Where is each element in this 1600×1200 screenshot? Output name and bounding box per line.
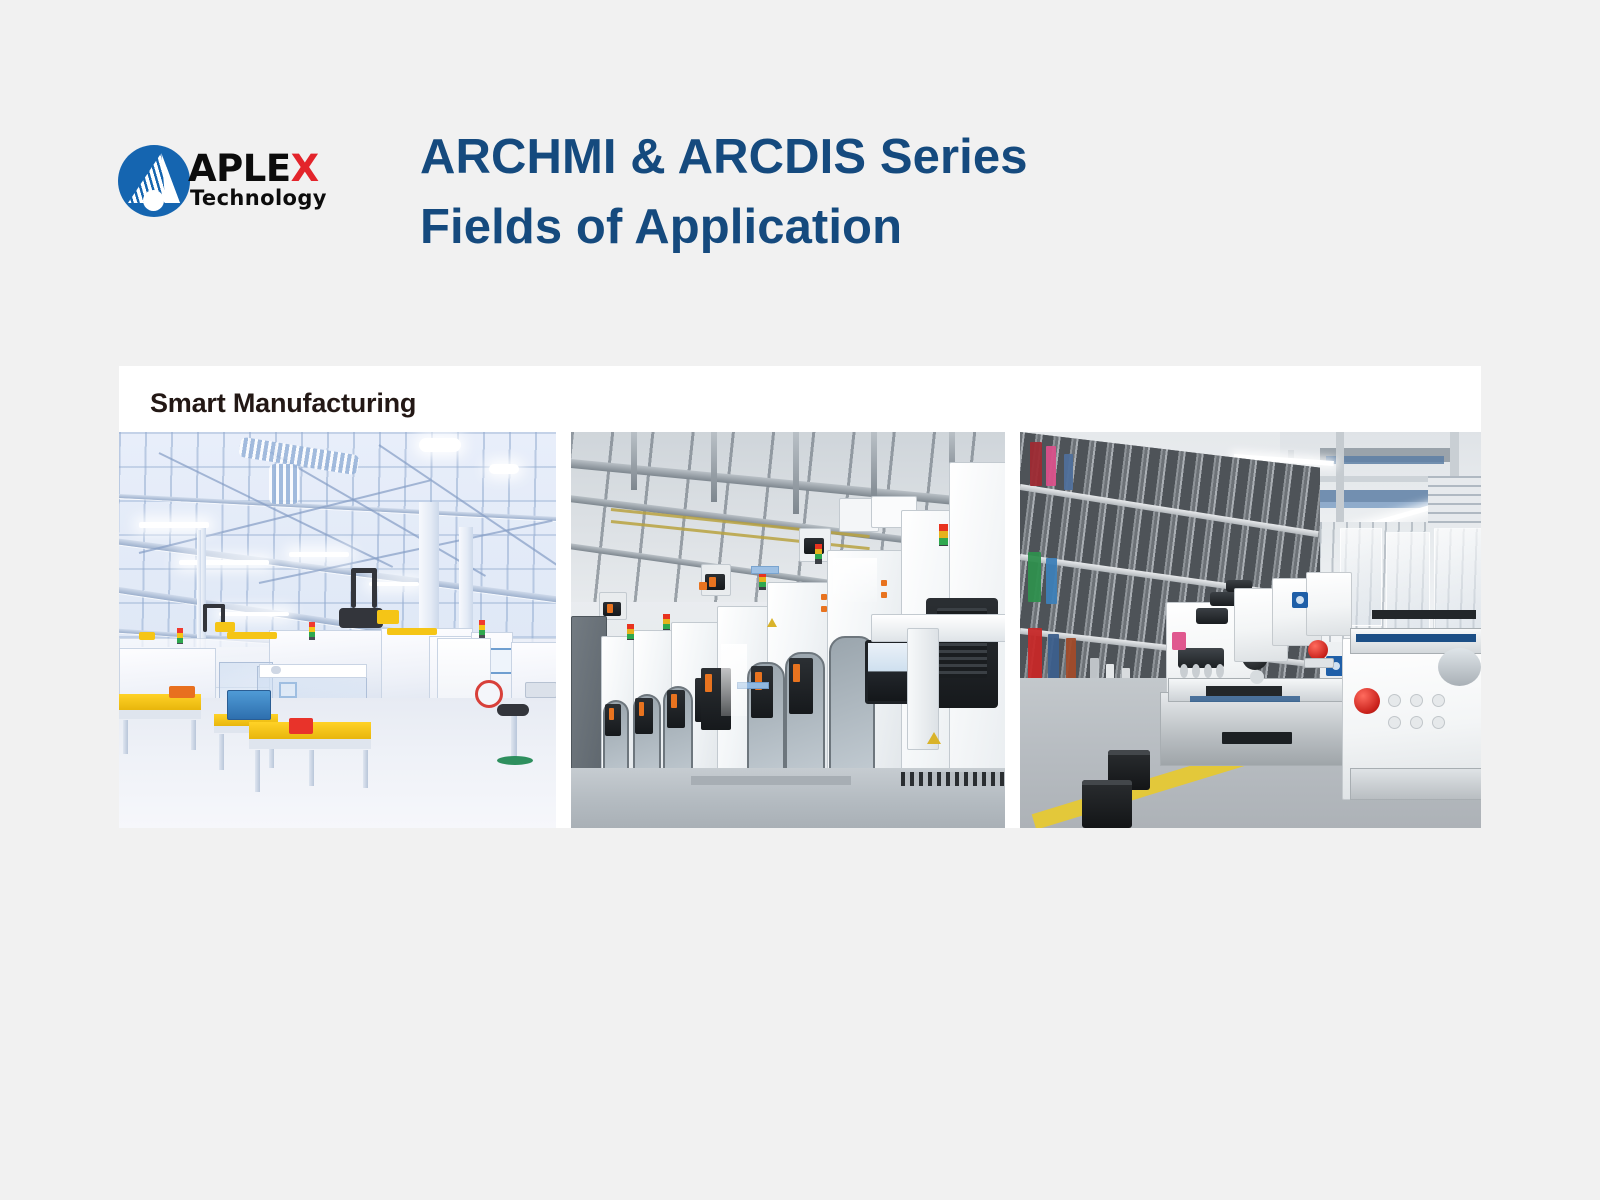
stool-post	[511, 716, 517, 758]
aplex-logo: APLEX Technology	[118, 142, 358, 220]
aplex-wordmark-accent: X	[291, 147, 319, 190]
foreground-machine-base	[1350, 768, 1481, 800]
stool-base	[497, 756, 533, 765]
assembly-rail	[1206, 686, 1282, 696]
emergency-stop-base	[1304, 658, 1334, 668]
rack-item	[1030, 442, 1042, 486]
carrier-indicator	[607, 604, 613, 613]
loadport-indicator	[793, 664, 800, 682]
page-title-line-1: ARCHMI & ARCDIS Series	[420, 122, 1320, 192]
red-bin	[289, 718, 313, 734]
loadport-indicator	[671, 694, 677, 708]
page-title-line-2: Fields of Application	[420, 192, 1320, 262]
tooling-spindle	[1216, 664, 1224, 678]
operator-pad[interactable]	[1292, 592, 1308, 608]
ceiling-hanger	[793, 432, 799, 514]
bench-top	[525, 682, 556, 698]
aplex-logo-mark	[118, 145, 190, 217]
page-title: ARCHMI & ARCDIS Series Fields of Applica…	[420, 122, 1320, 262]
aplex-wordmark-text: APLEX	[188, 150, 319, 188]
slide-header: APLEX Technology ARCHMI & ARCDIS Series …	[0, 0, 1600, 330]
overhead-gantry	[372, 568, 377, 608]
panel-button[interactable]	[1410, 694, 1423, 707]
rack-item	[1064, 454, 1073, 490]
warning-triangle-icon	[767, 618, 777, 627]
conveyor-rail	[227, 632, 277, 639]
assembly-rail	[1372, 610, 1476, 619]
panel-button[interactable]	[1388, 716, 1401, 729]
machine-knob	[271, 666, 281, 674]
work-table-deck	[249, 739, 371, 749]
panel-button[interactable]	[1388, 694, 1401, 707]
assembly-module	[1306, 572, 1352, 636]
control-button-panel[interactable]	[1388, 694, 1446, 729]
status-light-stack	[309, 622, 315, 640]
tooling-spindle	[1180, 664, 1188, 678]
loadport-indicator	[609, 708, 614, 720]
wafer-loadport	[635, 698, 653, 734]
ceiling-lamp	[289, 552, 349, 557]
tooling-spindle	[1204, 664, 1212, 678]
table-leg	[309, 750, 314, 786]
status-light-stack	[177, 628, 183, 644]
rack-item	[1046, 446, 1056, 486]
status-light-stack	[479, 620, 485, 638]
tool-light-reflection	[721, 644, 747, 716]
carrier-indicator	[709, 577, 716, 587]
rack-item	[1048, 634, 1059, 684]
tooling-spindle	[1250, 670, 1264, 684]
tool-indicator	[881, 580, 887, 586]
ceiling-lamp	[489, 464, 519, 474]
machine-rotary-table	[1438, 648, 1481, 686]
photo-automated-assembly-line	[1020, 432, 1481, 828]
assembly-blue-rail	[1356, 634, 1476, 642]
status-light-stack	[939, 524, 948, 546]
ceiling-hanger	[711, 432, 717, 502]
table-leg	[363, 750, 368, 788]
parts-bin	[169, 686, 195, 698]
overhead-gantry	[203, 604, 207, 632]
cabinet-slot	[1222, 732, 1292, 744]
status-light-stack	[627, 624, 634, 640]
tool-light-reflection	[833, 558, 877, 602]
rack-item	[1028, 628, 1042, 682]
status-light-stack	[759, 572, 766, 590]
tool-base-frame	[691, 776, 851, 785]
overhead-gantry	[351, 568, 356, 608]
aplex-wordmark-main: APLE	[188, 147, 291, 190]
warning-triangle-icon	[927, 732, 941, 744]
ceiling-lamp	[419, 438, 461, 452]
emergency-stop-button[interactable]	[1308, 640, 1328, 660]
table-leg	[219, 734, 224, 770]
tool-indicator	[881, 592, 887, 598]
status-light-stack	[815, 544, 822, 564]
tooling-head	[1196, 608, 1228, 624]
ceiling-column	[1336, 432, 1344, 532]
aplex-tagline: Technology	[190, 186, 327, 210]
section-heading: Smart Manufacturing	[150, 388, 416, 419]
magenta-part	[1172, 632, 1186, 650]
aplex-wordmark: APLEX Technology	[188, 150, 358, 214]
stool-seat	[497, 704, 529, 716]
assembly-base-cabinet	[1160, 692, 1352, 766]
panel-button[interactable]	[1432, 716, 1445, 729]
tool-base-frame	[901, 772, 1005, 786]
panel-button[interactable]	[1432, 694, 1445, 707]
ceiling-lamp	[179, 560, 269, 565]
rack-item	[1028, 552, 1041, 602]
photo-smart-factory-hall	[119, 432, 556, 828]
table-leg	[191, 720, 196, 750]
assembly-blue-rail	[1190, 696, 1300, 702]
loadport-indicator	[705, 674, 712, 692]
tool-indicator	[821, 606, 827, 612]
background-rack	[1428, 476, 1481, 528]
circle-dot-icon	[143, 190, 164, 211]
photo-strip	[119, 432, 1481, 828]
ceiling-lamp	[219, 612, 289, 616]
tool-nameplate	[751, 566, 779, 574]
rack-item	[1046, 558, 1057, 604]
photo-semiconductor-tool-row	[571, 432, 1005, 828]
panel-button[interactable]	[1410, 716, 1423, 729]
tool-indicator	[699, 582, 707, 590]
emergency-stop-button[interactable]	[1354, 688, 1380, 714]
content-panel: Smart Manufacturing	[119, 366, 1481, 828]
table-leg	[123, 720, 128, 754]
robot-yellow-cover	[139, 632, 155, 640]
loadport-indicator	[639, 702, 644, 716]
ceiling-duct-drop	[269, 464, 299, 504]
warning-sign	[475, 680, 503, 708]
tooling-spindle	[1192, 664, 1200, 678]
floor-roller	[1082, 780, 1132, 828]
robot-yellow-cover	[377, 610, 399, 624]
ceiling-hanger	[631, 432, 637, 490]
tool-indicator	[821, 594, 827, 600]
work-table-deck	[119, 710, 201, 719]
robot-yellow-cover	[215, 622, 235, 632]
blue-crate	[227, 690, 271, 720]
ceiling-hanger	[871, 432, 877, 502]
status-light-stack	[663, 614, 670, 630]
conveyor-rail	[387, 628, 437, 635]
table-leg	[255, 750, 260, 792]
